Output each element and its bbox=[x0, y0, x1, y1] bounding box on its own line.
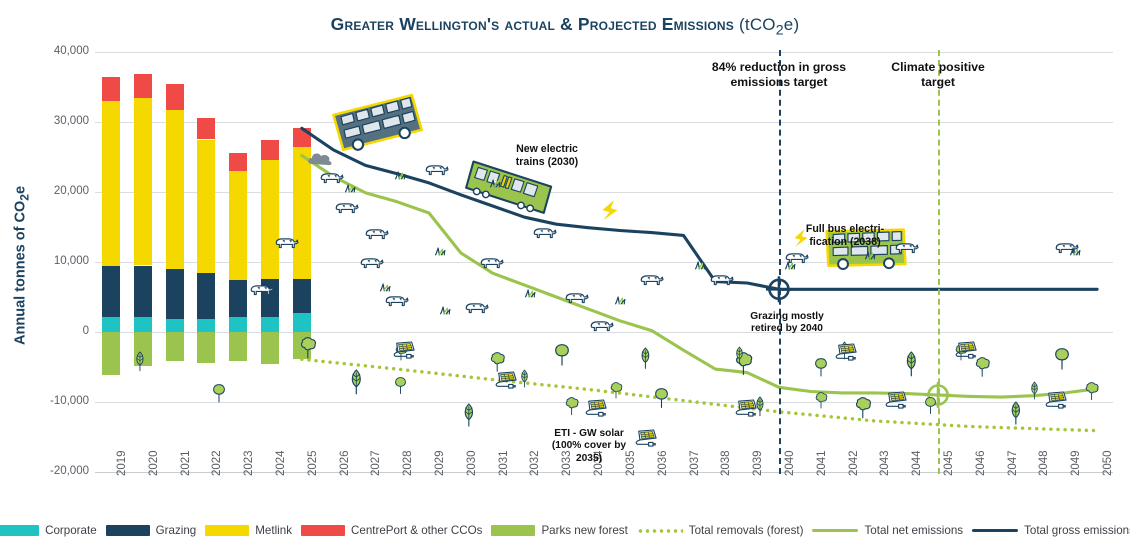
cow-icon bbox=[786, 254, 808, 263]
legend-swatch bbox=[301, 525, 345, 536]
grass-icon bbox=[436, 248, 445, 255]
target-label-line2: target bbox=[843, 75, 1033, 90]
legend-label: Grazing bbox=[156, 524, 197, 537]
tree-icon bbox=[816, 393, 827, 409]
annotation-line: Grazing mostly bbox=[733, 311, 841, 323]
legend: CorporateGrazingMetlinkCentrePort & othe… bbox=[0, 524, 1130, 537]
legend-label: Parks new forest bbox=[541, 524, 627, 537]
chart-title-units: (tCO2e) bbox=[739, 15, 799, 34]
solar-panel-icon bbox=[1046, 392, 1066, 408]
tree-icon bbox=[757, 397, 763, 416]
tree-icon bbox=[816, 359, 827, 376]
cloud-icon bbox=[308, 154, 331, 166]
legend-item[interactable]: CentrePort & other CCOs bbox=[301, 524, 482, 537]
legend-swatch bbox=[0, 525, 39, 536]
tree-icon bbox=[1032, 382, 1038, 399]
legend-label: Total removals (forest) bbox=[689, 524, 804, 537]
annotation-grazing-retired: Grazing mostlyretired by 2040 bbox=[733, 311, 841, 336]
legend-label: Total net emissions bbox=[864, 524, 963, 537]
legend-item[interactable]: Total gross emissions bbox=[972, 524, 1130, 537]
target-vertical-line bbox=[779, 50, 781, 474]
tree-icon bbox=[907, 352, 915, 376]
annotation-line: Full bus electri- bbox=[790, 223, 900, 236]
tree-icon bbox=[611, 383, 622, 399]
annotation-eti-gw-solar: ETI - GW solar(100% cover by2035) bbox=[535, 428, 643, 465]
cow-icon bbox=[481, 259, 503, 268]
tree-icon bbox=[137, 352, 143, 371]
cow-icon bbox=[336, 204, 358, 213]
tree-icon bbox=[522, 370, 528, 387]
tree-icon bbox=[1012, 402, 1019, 424]
grass-icon bbox=[396, 172, 405, 179]
tree-icon bbox=[352, 370, 360, 394]
cow-icon bbox=[711, 276, 733, 285]
solar-panel-icon bbox=[394, 342, 414, 358]
grass-icon bbox=[616, 297, 625, 304]
y-axis-tick-label: 20,000 bbox=[9, 185, 89, 197]
tree-icon bbox=[214, 385, 225, 402]
solar-panel-icon bbox=[956, 342, 976, 358]
cow-icon bbox=[251, 286, 273, 295]
cow-icon bbox=[366, 230, 388, 239]
tree-icon bbox=[465, 404, 472, 426]
annotation-line: ETI - GW solar bbox=[535, 428, 643, 440]
plot-area: 40,00030,00020,00010,0000-10,000-20,000 … bbox=[95, 52, 1113, 472]
legend-label: CentrePort & other CCOs bbox=[351, 524, 482, 537]
annotation-line: (100% cover by bbox=[535, 440, 643, 452]
cow-icon bbox=[466, 304, 488, 313]
tree-icon bbox=[642, 348, 649, 368]
double-decker-bus-icon bbox=[333, 95, 423, 154]
cow-icon bbox=[426, 166, 448, 175]
tree-icon bbox=[566, 398, 578, 415]
lightning-bolt-icon bbox=[597, 195, 622, 228]
cow-icon bbox=[276, 239, 298, 248]
legend-label: Corporate bbox=[45, 524, 97, 537]
grass-icon bbox=[696, 262, 705, 269]
cow-icon bbox=[641, 276, 663, 285]
cow-icon bbox=[386, 297, 408, 306]
tree-icon bbox=[1056, 349, 1069, 369]
grass-icon bbox=[441, 307, 450, 314]
tree-icon bbox=[976, 358, 989, 377]
annotation-line: New electric bbox=[492, 143, 602, 156]
solar-panel-icon bbox=[496, 372, 516, 388]
grass-icon bbox=[526, 290, 535, 297]
annotation-line: 2035) bbox=[535, 453, 643, 465]
chart-title-main: Greater Wellington's actual & Projected … bbox=[331, 14, 739, 34]
tree-icon bbox=[556, 345, 569, 365]
annotation-new-electric-trains: New electrictrains (2030) bbox=[492, 143, 602, 169]
legend-swatch bbox=[106, 525, 150, 536]
legend-label: Total gross emissions bbox=[1024, 524, 1130, 537]
solar-panel-icon bbox=[586, 400, 606, 416]
legend-item[interactable]: Corporate bbox=[0, 524, 97, 537]
legend-item[interactable]: Parks new forest bbox=[491, 524, 627, 537]
annotation-full-bus-electrification: Full bus electri-fication (2038) bbox=[790, 223, 900, 249]
grass-icon bbox=[381, 284, 390, 291]
cow-icon bbox=[534, 229, 556, 238]
tree-icon bbox=[656, 389, 668, 408]
target-vertical-line bbox=[938, 50, 940, 474]
target-label-climate-positive: Climate positivetarget bbox=[843, 60, 1033, 90]
y-axis-tick-label: 10,000 bbox=[9, 255, 89, 267]
legend-swatch bbox=[491, 525, 535, 536]
legend-dotted-swatch bbox=[637, 529, 683, 533]
legend-line-swatch bbox=[972, 529, 1018, 532]
y-axis-tick-label: 30,000 bbox=[9, 115, 89, 127]
annotation-line: fication (2038) bbox=[790, 236, 900, 249]
tree-icon bbox=[1086, 383, 1098, 400]
tree-icon bbox=[491, 353, 504, 372]
target-label-line1: Climate positive bbox=[843, 60, 1033, 75]
cow-icon bbox=[361, 259, 383, 268]
tree-icon bbox=[396, 378, 406, 394]
cow-icon bbox=[591, 322, 613, 331]
y-axis-tick-label: -20,000 bbox=[9, 465, 89, 477]
cow-icon bbox=[566, 294, 588, 303]
annotation-line: retired by 2040 bbox=[733, 323, 841, 335]
legend-item[interactable]: Grazing bbox=[106, 524, 197, 537]
legend-label: Metlink bbox=[255, 524, 292, 537]
cow-icon bbox=[1056, 244, 1078, 253]
decorative-icons-overlay bbox=[95, 52, 1113, 472]
solar-panel-icon bbox=[886, 392, 906, 408]
tree-icon bbox=[302, 338, 316, 358]
solar-panel-icon bbox=[736, 400, 756, 416]
chart-root: Greater Wellington's actual & Projected … bbox=[0, 0, 1130, 553]
legend-item[interactable]: Metlink bbox=[205, 524, 292, 537]
cow-icon bbox=[321, 174, 343, 183]
y-axis-tick-label: 40,000 bbox=[9, 45, 89, 57]
y-axis-tick-label: 0 bbox=[9, 325, 89, 337]
legend-item[interactable]: Total net emissions bbox=[812, 524, 963, 537]
legend-swatch bbox=[205, 525, 249, 536]
tree-icon bbox=[857, 398, 871, 418]
annotation-line: trains (2030) bbox=[492, 156, 602, 169]
legend-line-swatch bbox=[812, 529, 858, 532]
grass-icon bbox=[346, 185, 355, 192]
y-axis-tick-label: -10,000 bbox=[9, 395, 89, 407]
tree-icon bbox=[926, 398, 936, 414]
legend-item[interactable]: Total removals (forest) bbox=[637, 524, 804, 537]
chart-title: Greater Wellington's actual & Projected … bbox=[0, 14, 1130, 38]
solar-panel-icon bbox=[836, 344, 856, 360]
